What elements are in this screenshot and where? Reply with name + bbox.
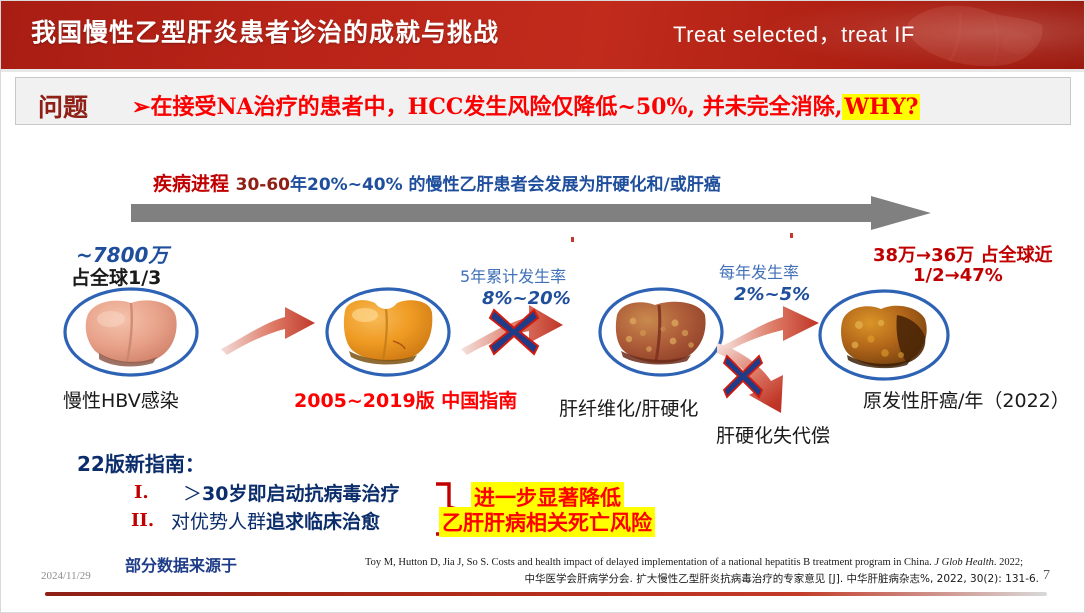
page-title: 我国慢性乙型肝炎患者诊治的成就与挑战 — [31, 13, 499, 49]
guideline-outcome-line2: 乙肝肝病相关死亡风险 — [439, 507, 655, 537]
progression-title: 疾病进程 — [153, 173, 229, 195]
guideline-item-2: 对优势人群追求临床治愈 — [171, 507, 380, 534]
decompensation-caption: 肝硬化失代偿 — [716, 421, 830, 448]
cirrhotic-liver-icon — [613, 295, 709, 369]
stage-chronic-hbv-caption: 慢性HBV感染 — [63, 386, 179, 413]
progression-text: 疾病进程 30-60年20%~40% 的慢性乙肝患者会发展为肝硬化和/或肝癌 — [153, 169, 721, 196]
rate-label-5yr: 5年累计发生率 — [460, 263, 566, 287]
liver-watermark-icon — [900, 1, 1050, 69]
guideline-item-2-number: II. — [131, 510, 154, 531]
progression-years: 30-60 — [236, 175, 290, 195]
progression-detail: 年20%~40% 的慢性乙肝患者会发展为肝硬化和/或肝癌 — [290, 175, 721, 195]
header-subtitle: Treat selected，treat IF — [673, 17, 915, 49]
stage-cancer-stat-line1: 38万→36万 占全球近 — [873, 241, 1052, 267]
footer-date: 2024/11/29 — [41, 570, 91, 582]
footer-page-number: 7 — [1043, 568, 1050, 584]
healthy-liver-icon — [81, 293, 181, 371]
header-underline — [1, 69, 1085, 72]
why-highlight: WHY? — [842, 94, 920, 120]
slide-canvas: 我国慢性乙型肝炎患者诊治的成就与挑战 Treat selected，treat … — [0, 0, 1085, 613]
question-body: 在接受NA治疗的患者中，HCC发生风险仅降低~50%, 并未完全消除, — [150, 94, 842, 120]
question-bar: 问题 ➢在接受NA治疗的患者中，HCC发生风险仅降低~50%, 并未完全消除,W… — [15, 77, 1071, 125]
curved-red-arrow-icon — [219, 301, 319, 361]
rate-label-annual: 每年发生率 — [719, 259, 799, 283]
question-bullet-icon: ➢ — [132, 94, 150, 120]
question-label: 问题 — [38, 88, 88, 124]
footer-source-label: 部分数据来源于 — [125, 552, 237, 576]
cancerous-liver-icon — [837, 297, 933, 373]
guideline-item-1: ＞30岁即启动抗病毒治疗 — [183, 479, 399, 506]
stage-fibrosis-caption: 肝纤维化/肝硬化 — [559, 394, 698, 421]
decorative-dot — [790, 233, 793, 238]
guideline-item-1-prefix: ＞ — [183, 483, 202, 505]
stage-cancer-stat-line2: 1/2→47% — [913, 265, 1003, 286]
footer-reference-1-a: Toy M, Hutton D, Jia J, So S. Costs and … — [365, 557, 934, 568]
footer-reference-2: 中华医学会肝病学分会. 扩大慢性乙型肝炎抗病毒治疗的专家意见 [J]. 中华肝脏… — [249, 572, 1039, 586]
blue-x-icon — [721, 353, 765, 399]
footer-reference-1-journal: J Glob Health — [934, 557, 994, 568]
stage-cancer-caption: 原发性肝癌/年（2022） — [863, 386, 1070, 413]
guideline-item-1-number: I. — [134, 482, 149, 503]
guidelines-title: 22版新指南： — [77, 448, 205, 477]
question-text: ➢在接受NA治疗的患者中，HCC发生风险仅降低~50%, 并未完全消除,WHY? — [132, 89, 920, 121]
footer-reference-1: Toy M, Hutton D, Jia J, So S. Costs and … — [249, 556, 1039, 570]
footer-rule — [45, 592, 1047, 596]
right-arrow-icon — [131, 196, 931, 230]
fatty-liver-icon — [341, 293, 435, 369]
slide-header: 我国慢性乙型肝炎患者诊治的成就与挑战 Treat selected，treat … — [1, 1, 1085, 69]
blue-x-icon — [487, 306, 541, 358]
decorative-dot — [571, 237, 574, 242]
guideline-item-2-prefix: 对优势人群 — [171, 511, 266, 533]
guideline-item-2-emphasis: 追求临床治愈 — [266, 511, 380, 533]
footer-reference-1-b: . 2022; — [994, 557, 1023, 568]
guideline-item-1-emphasis: 30岁即启动抗病毒治疗 — [202, 483, 399, 505]
stage-guideline-caption: 2005~2019版 中国指南 — [294, 386, 517, 413]
